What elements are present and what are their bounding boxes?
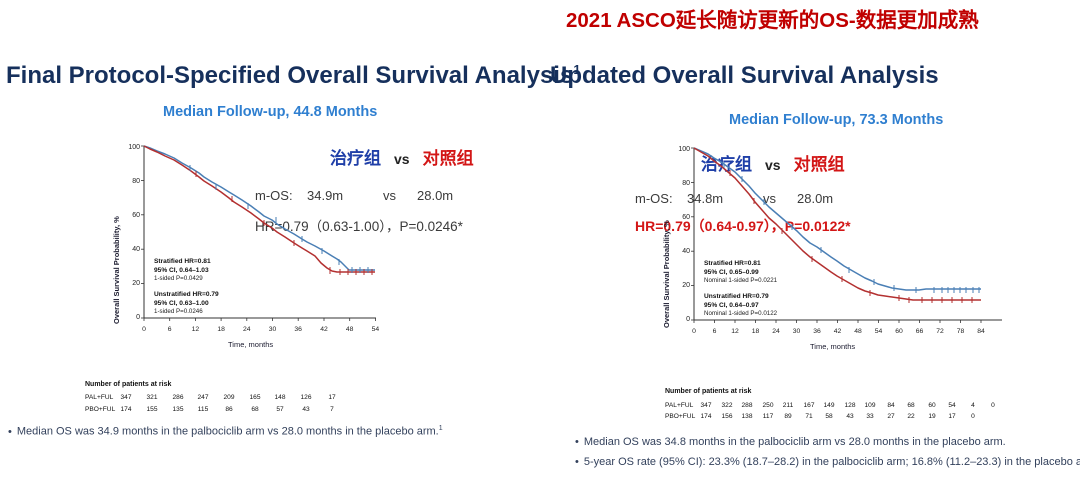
left-summary-bullet: •Median OS was 34.9 months in the palboc… [8, 425, 443, 438]
right-y-tick: 60 [672, 214, 690, 221]
left-unstratified-p: 1-sided P=0.0246 [154, 308, 219, 316]
bullet-dot-icon: • [575, 456, 579, 468]
right-risk-value: 68 [903, 402, 919, 409]
left-risk-value: 165 [247, 394, 263, 401]
left-risk-value: 43 [298, 406, 314, 413]
right-risk-value: 43 [842, 413, 858, 420]
right-summary-bullet-2: •5-year OS rate (95% CI): 23.3% (18.7–28… [575, 456, 1080, 468]
right-risk-value: 322 [719, 402, 735, 409]
right-x-tick: 72 [933, 328, 947, 335]
right-y-tick: 80 [672, 180, 690, 187]
bullet-dot-icon: • [575, 436, 579, 448]
left-panel-title: Final Protocol-Specified Overall Surviva… [6, 62, 581, 90]
slide: 2021 ASCO延长随访更新的OS-数据更加成熟 Final Protocol… [0, 0, 1080, 481]
left-x-tick: 30 [266, 326, 280, 333]
left-risk-value: 135 [170, 406, 186, 413]
right-risk-value: 71 [801, 413, 817, 420]
right-y-tick: 100 [672, 146, 690, 153]
right-stratified-p: Nominal 1-sided P=0.0221 [704, 277, 777, 285]
right-x-tick: 24 [769, 328, 783, 335]
right-risk-row-label: PAL+FUL [665, 402, 699, 409]
right-risk-value: 22 [903, 413, 919, 420]
right-x-axis-label: Time, months [810, 342, 855, 351]
right-x-tick: 36 [810, 328, 824, 335]
right-bullet-2-text: 5-year OS rate (95% CI): 23.3% (18.7–28.… [584, 456, 1080, 468]
right-risk-value: 0 [965, 413, 981, 420]
right-risk-value: 109 [862, 402, 878, 409]
left-stratified-p: 1-sided P=0.0429 [154, 275, 211, 283]
left-bullet-superscript: 1 [439, 425, 443, 432]
left-y-axis-label: Overall Survival Probability, % [112, 216, 121, 324]
left-panel-subtitle: Median Follow-up, 44.8 Months [163, 104, 377, 120]
right-risk-value: 211 [780, 402, 796, 409]
right-y-axis-label: Overall Survival Probability, % [662, 220, 671, 328]
left-risk-value: 209 [221, 394, 237, 401]
right-x-tick: 18 [749, 328, 763, 335]
right-risk-value: 156 [719, 413, 735, 420]
right-risk-value: 250 [760, 402, 776, 409]
right-risk-value: 347 [698, 402, 714, 409]
right-risk-value: 19 [924, 413, 940, 420]
right-risk-value: 60 [924, 402, 940, 409]
left-chart-annotation-unstratified: Unstratified HR=0.79 95% CI, 0.63–1.00 1… [154, 291, 219, 317]
left-x-tick: 54 [368, 326, 382, 333]
left-risk-value: 347 [118, 394, 134, 401]
right-x-tick: 84 [974, 328, 988, 335]
right-x-tick: 54 [872, 328, 886, 335]
left-risk-value: 57 [272, 406, 288, 413]
right-x-tick: 78 [954, 328, 968, 335]
left-stratified-hr: Stratified HR=0.81 [154, 258, 211, 267]
right-risk-row-label: PBO+FUL [665, 413, 699, 420]
right-risk-value: 128 [842, 402, 858, 409]
left-risk-row-label: PAL+FUL [85, 394, 119, 401]
right-unstratified-ci: 95% CI, 0.64–0.97 [704, 302, 777, 311]
left-y-tick: 60 [122, 212, 140, 219]
left-unstratified-hr: Unstratified HR=0.79 [154, 291, 219, 300]
left-stratified-ci: 95% CI, 0.64–1.03 [154, 267, 211, 276]
left-risk-value: 321 [144, 394, 160, 401]
left-x-tick: 48 [343, 326, 357, 333]
left-risk-value: 86 [221, 406, 237, 413]
right-y-tick: 20 [672, 282, 690, 289]
right-risk-value: 58 [821, 413, 837, 420]
right-panel-subtitle: Median Follow-up, 73.3 Months [729, 112, 943, 128]
left-panel: Final Protocol-Specified Overall Surviva… [0, 0, 540, 481]
right-km-chart: Overall Survival Probability, % 100 80 6… [662, 142, 1042, 382]
right-x-tick: 60 [892, 328, 906, 335]
right-risk-value: 33 [862, 413, 878, 420]
right-x-tick: 0 [687, 328, 701, 335]
left-bullet-text: Median OS was 34.9 months in the palboci… [17, 426, 439, 438]
right-risk-value: 0 [985, 402, 1001, 409]
left-y-tick: 100 [122, 144, 140, 151]
left-x-tick: 42 [317, 326, 331, 333]
left-panel-title-text: Final Protocol-Specified Overall Surviva… [6, 62, 573, 89]
right-x-tick: 6 [708, 328, 722, 335]
left-risk-value: 155 [144, 406, 160, 413]
right-risk-row-pal: PAL+FUL 347 322 288 250 211 167 149 128 … [665, 402, 1045, 412]
right-x-tick: 42 [831, 328, 845, 335]
left-risk-row-label: PBO+FUL [85, 406, 119, 413]
right-panel-title: Updated Overall Survival Analysis [550, 62, 939, 90]
left-control-arm-label: 对照组 [423, 149, 474, 168]
left-km-chart: Overall Survival Probability, % 100 80 6… [112, 140, 412, 375]
right-x-tick: 12 [728, 328, 742, 335]
right-panel: Updated Overall Survival Analysis Median… [540, 0, 1080, 481]
left-risk-value: 148 [272, 394, 288, 401]
left-x-tick: 0 [137, 326, 151, 333]
right-x-tick: 66 [913, 328, 927, 335]
right-unstratified-hr: Unstratified HR=0.79 [704, 293, 777, 302]
left-chart-annotation-stratified: Stratified HR=0.81 95% CI, 0.64–1.03 1-s… [154, 258, 211, 284]
right-risk-value: 84 [883, 402, 899, 409]
left-risk-value: 174 [118, 406, 134, 413]
left-risk-row-pal: PAL+FUL 347 321 286 247 209 165 148 126 … [85, 394, 365, 404]
right-chart-annotation-stratified: Stratified HR=0.81 95% CI, 0.65–0.99 Nom… [704, 260, 777, 286]
left-y-tick: 0 [122, 314, 140, 321]
right-bullet-1-text: Median OS was 34.8 months in the palboci… [584, 436, 1006, 448]
right-risk-row-pbo: PBO+FUL 174 156 138 117 89 71 58 43 33 2… [665, 413, 1045, 423]
left-mos-control-value: 28.0m [417, 188, 453, 203]
left-unstratified-ci: 95% CI, 0.63–1.00 [154, 300, 219, 309]
left-risk-value: 126 [298, 394, 314, 401]
right-risk-value: 117 [760, 413, 776, 420]
right-risk-value: 138 [739, 413, 755, 420]
left-risk-value: 286 [170, 394, 186, 401]
right-risk-value: 17 [944, 413, 960, 420]
left-y-tick: 20 [122, 280, 140, 287]
right-unstratified-p: Nominal 1-sided P=0.0122 [704, 310, 777, 318]
right-risk-value: 27 [883, 413, 899, 420]
right-summary-bullet-1: •Median OS was 34.8 months in the palboc… [575, 436, 1006, 448]
right-risk-value: 149 [821, 402, 837, 409]
left-y-tick: 40 [122, 246, 140, 253]
left-risk-table-title: Number of patients at risk [85, 381, 171, 388]
left-risk-value: 247 [195, 394, 211, 401]
right-risk-value: 54 [944, 402, 960, 409]
left-x-tick: 36 [291, 326, 305, 333]
right-stratified-hr: Stratified HR=0.81 [704, 260, 777, 269]
left-risk-value: 17 [324, 394, 340, 401]
left-risk-row-pbo: PBO+FUL 174 155 135 115 86 68 57 43 7 [85, 406, 365, 416]
left-risk-value: 68 [247, 406, 263, 413]
left-x-tick: 6 [163, 326, 177, 333]
right-risk-value: 167 [801, 402, 817, 409]
right-risk-value: 288 [739, 402, 755, 409]
right-stratified-ci: 95% CI, 0.65–0.99 [704, 269, 777, 278]
left-x-axis-label: Time, months [228, 340, 273, 349]
right-x-tick: 30 [790, 328, 804, 335]
right-x-tick: 48 [851, 328, 865, 335]
left-x-tick: 18 [214, 326, 228, 333]
left-risk-value: 115 [195, 406, 211, 413]
right-risk-value: 174 [698, 413, 714, 420]
left-y-tick: 80 [122, 178, 140, 185]
left-risk-value: 7 [324, 406, 340, 413]
bullet-dot-icon: • [8, 426, 12, 438]
right-chart-annotation-unstratified: Unstratified HR=0.79 95% CI, 0.64–0.97 N… [704, 293, 777, 319]
right-risk-value: 4 [965, 402, 981, 409]
right-risk-value: 89 [780, 413, 796, 420]
right-risk-table-title: Number of patients at risk [665, 388, 751, 395]
right-y-tick: 0 [672, 316, 690, 323]
right-y-tick: 40 [672, 248, 690, 255]
left-x-tick: 12 [188, 326, 202, 333]
left-x-tick: 24 [240, 326, 254, 333]
